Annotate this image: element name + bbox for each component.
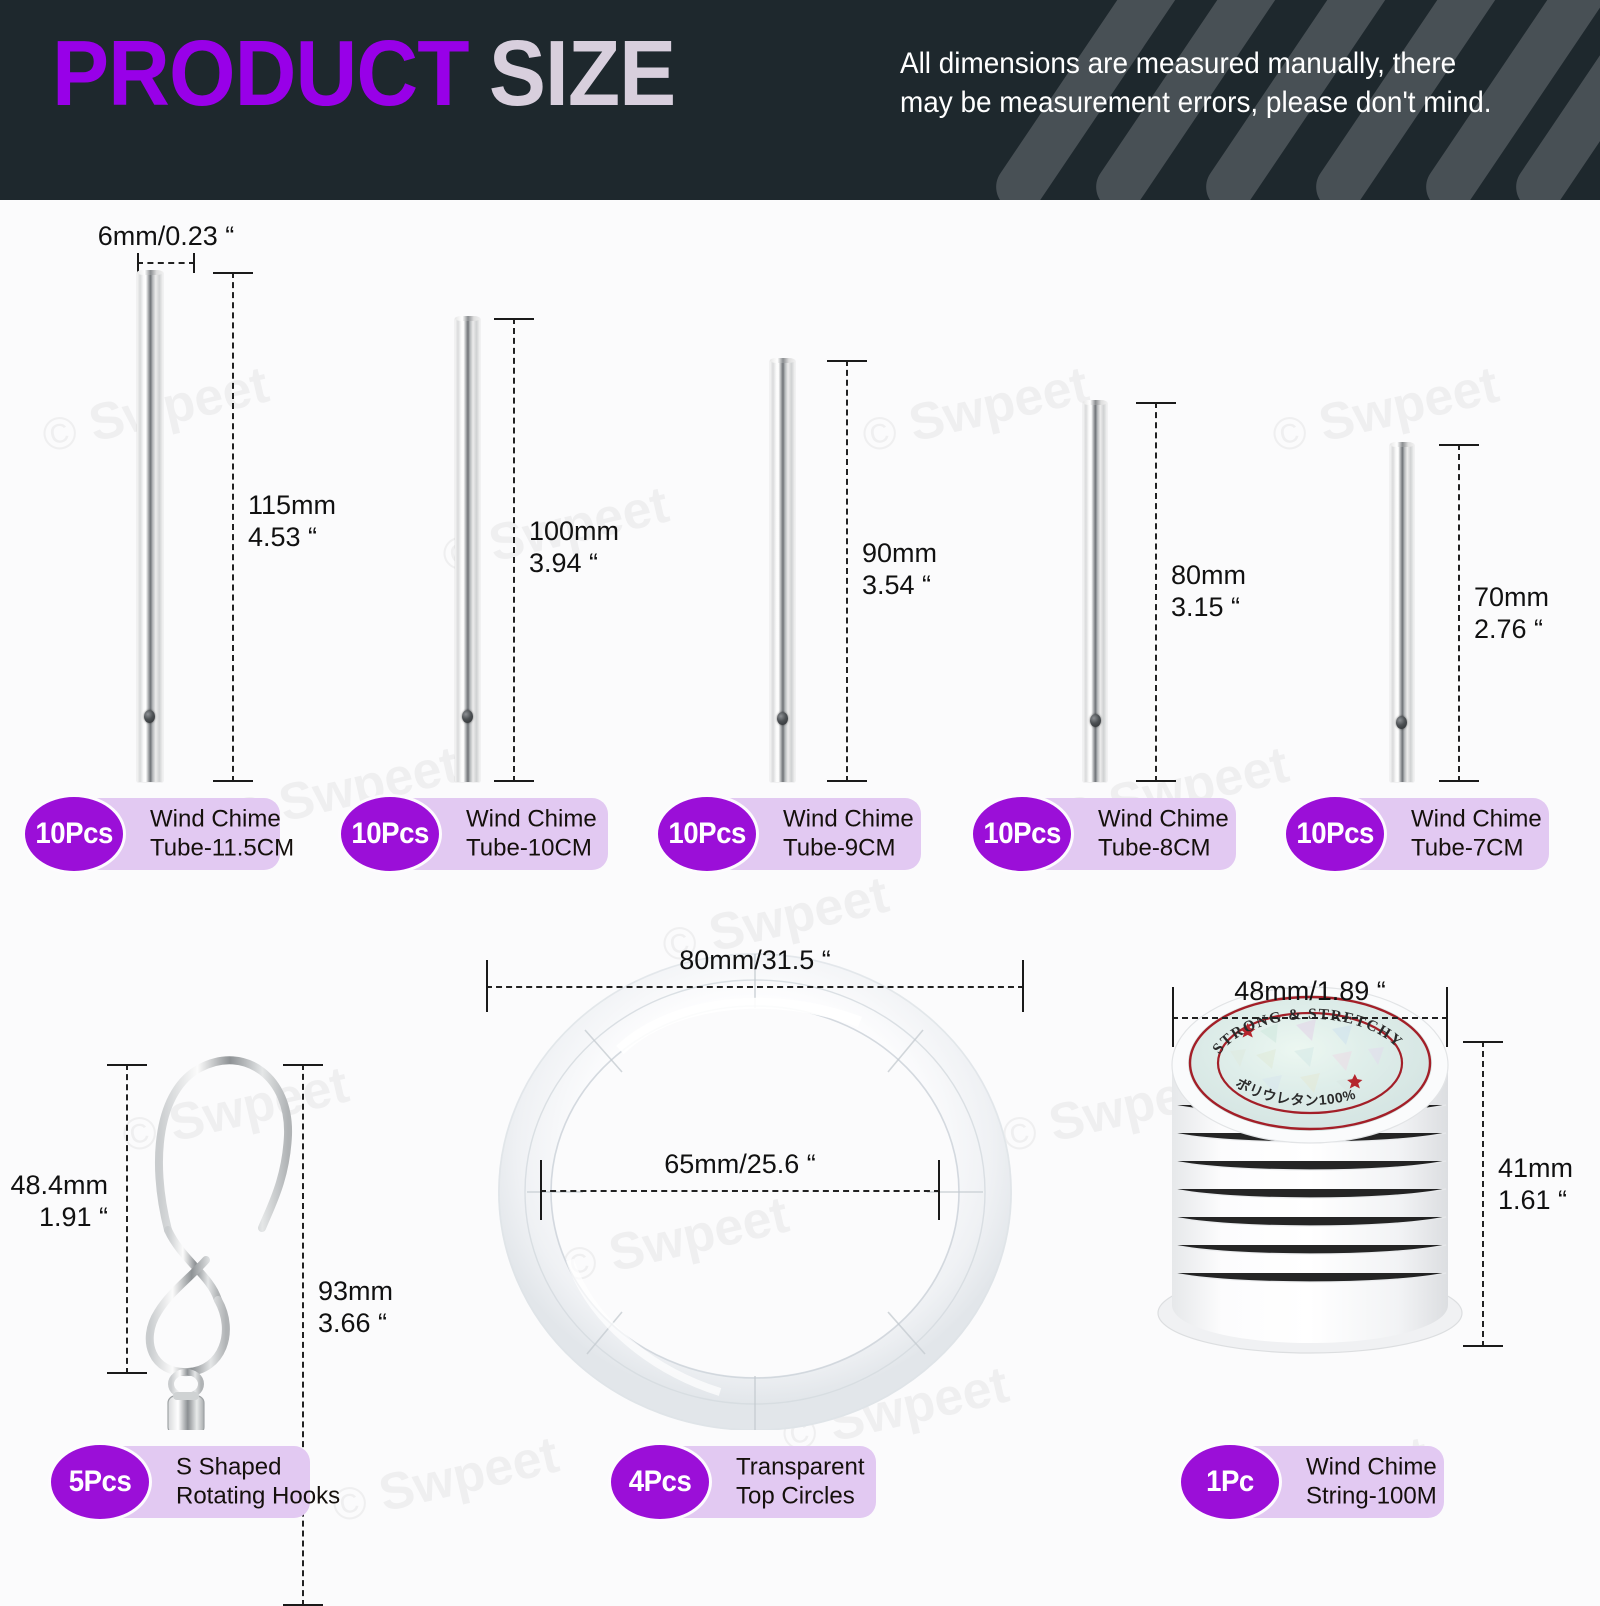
badge-label: Wind Chime Tube-7CM (1411, 805, 1542, 864)
dimension-tick-left (486, 960, 488, 1012)
header-banner: PRODUCTSIZE All dimensions are measured … (0, 0, 1600, 200)
tube-length-inch: 3.15 “ (1171, 592, 1246, 624)
tube-length-inch: 3.54 “ (862, 570, 937, 602)
caliper-line (137, 262, 195, 264)
watermark-brand: Swpeet (1314, 356, 1504, 453)
badge-label-line2: Tube-7CM (1411, 834, 1542, 863)
tube-length-label: 70mm 2.76 “ (1474, 582, 1549, 646)
badge-quantity: 4Pcs (629, 1465, 692, 1499)
dimension-tick-bottom (1136, 780, 1176, 782)
dimension-tick-bottom (494, 780, 534, 782)
dimension-line (846, 360, 848, 782)
badge-label-line1: S Shaped (176, 1453, 340, 1482)
tube-body (455, 318, 480, 782)
tube-hole (1090, 714, 1101, 727)
watermark-symbol: © (37, 404, 82, 462)
hook-total-inch: 3.66 “ (318, 1308, 393, 1340)
badge-string-spool[interactable]: 1Pc Wind Chime String-100M (1178, 1446, 1444, 1518)
spool-width-label: 48mm/1.89 “ (1234, 976, 1386, 1007)
dimension-tick-bottom (107, 1372, 147, 1374)
hook-upper-inch: 1.91 “ (0, 1202, 108, 1234)
badge-quantity: 10Pcs (668, 817, 746, 851)
spool-height-label: 41mm 1.61 “ (1498, 1153, 1573, 1217)
badge-label: Wind Chime Tube-11.5CM (150, 805, 294, 864)
badge-label: Wind Chime Tube-8CM (1098, 805, 1229, 864)
badge-label: Wind Chime Tube-10CM (466, 805, 597, 864)
tube-length-inch: 4.53 “ (248, 522, 336, 554)
dimension-tick-right (1446, 987, 1448, 1047)
dimension-line (302, 1064, 304, 1606)
badge-label-line2: Tube-8CM (1098, 834, 1229, 863)
tube-length-inch: 2.76 “ (1474, 614, 1549, 646)
watermark-symbol: © (1267, 404, 1312, 462)
badge-label-line1: Wind Chime (783, 805, 914, 834)
dimension-tick-top (107, 1064, 147, 1066)
badge-tube-90mm[interactable]: 10Pcs Wind Chime Tube-9CM (655, 798, 921, 870)
tube-length-mm: 100mm (529, 516, 619, 548)
badge-quantity: 5Pcs (69, 1465, 132, 1499)
spool-height-inch: 1.61 “ (1498, 1185, 1573, 1217)
tube-body (137, 272, 163, 782)
watermark-symbol: © (857, 404, 902, 462)
dimension-line (1482, 1041, 1484, 1347)
badge-tube-100mm[interactable]: 10Pcs Wind Chime Tube-10CM (338, 798, 608, 870)
dimension-tick-top (1136, 402, 1176, 404)
dimension-tick-top (1439, 444, 1479, 446)
tube-diameter-label: 6mm/0.23 “ (98, 221, 235, 252)
badge-label-line2: Tube-11.5CM (150, 834, 294, 863)
tube-length-inch: 3.94 “ (529, 548, 619, 580)
dimension-line (1172, 1017, 1448, 1019)
dimension-tick-top (283, 1064, 323, 1066)
badge-label-line2: Tube-9CM (783, 834, 914, 863)
badge-label-line1: Wind Chime (466, 805, 597, 834)
badge-label-line1: Wind Chime (1306, 1453, 1437, 1482)
tube-length-label: 80mm 3.15 “ (1171, 560, 1246, 624)
dimension-line (540, 1190, 940, 1192)
dimension-tick-left (1172, 987, 1174, 1047)
badge-tube-115mm[interactable]: 10Pcs Wind Chime Tube-11.5CM (22, 798, 280, 870)
tube-length-mm: 70mm (1474, 582, 1549, 614)
badge-circle: 1Pc (1178, 1442, 1282, 1522)
dimension-line (1458, 444, 1460, 782)
dimension-tick-top (213, 272, 253, 274)
dimension-line (513, 318, 515, 782)
badge-quantity: 10Pcs (983, 817, 1061, 851)
spool-height-mm: 41mm (1498, 1153, 1573, 1185)
watermark-brand: Swpeet (374, 1426, 564, 1523)
badge-label: Wind Chime Tube-9CM (783, 805, 914, 864)
badge-label-line2: Top Circles (736, 1482, 865, 1511)
top-circle-illustration (470, 930, 1040, 1430)
watermark-brand: Swpeet (904, 356, 1094, 453)
hook-total-label: 93mm 3.66 “ (318, 1276, 393, 1340)
badge-quantity: 10Pcs (35, 817, 113, 851)
page-title-secondary: SIZE (489, 21, 676, 125)
tube-body (1083, 402, 1107, 782)
hook-upper-label: 48.4mm 1.91 “ (0, 1170, 108, 1234)
badge-label: S Shaped Rotating Hooks (176, 1453, 340, 1512)
dimension-tick-top (827, 360, 867, 362)
dimension-line (232, 272, 234, 782)
badge-label-line1: Wind Chime (150, 805, 294, 834)
dimension-tick-top (494, 318, 534, 320)
product-top-circle: 80mm/31.5 “ 65mm/25.6 “ (470, 930, 1040, 1430)
dimension-tick-top (1463, 1041, 1503, 1043)
tube-length-label: 90mm 3.54 “ (862, 538, 937, 602)
hook-upper-mm: 48.4mm (0, 1170, 108, 1202)
tube-length-mm: 115mm (248, 490, 336, 522)
dimension-tick-left (540, 1160, 542, 1220)
badge-label-line2: Rotating Hooks (176, 1482, 340, 1511)
badge-label-line2: String-100M (1306, 1482, 1437, 1511)
ring-inner-label: 65mm/25.6 “ (664, 1149, 816, 1180)
tube-length-mm: 90mm (862, 538, 937, 570)
badge-tube-70mm[interactable]: 10Pcs Wind Chime Tube-7CM (1283, 798, 1549, 870)
dimension-tick-bottom (213, 780, 253, 782)
tube-body (1390, 444, 1414, 782)
hook-total-mm: 93mm (318, 1276, 393, 1308)
badge-circle: 5Pcs (48, 1442, 152, 1522)
tube-hole (462, 710, 473, 723)
dimension-line (486, 986, 1024, 988)
dimension-tick-bottom (827, 780, 867, 782)
product-s-hook: 48.4mm 1.91 “ 93mm 3.66 “ (40, 960, 420, 1430)
badge-label-line2: Tube-10CM (466, 834, 597, 863)
measurement-disclaimer: All dimensions are measured manually, th… (900, 44, 1514, 123)
watermark-brand: Swpeet (84, 356, 274, 453)
product-string-spool: STRONG & STRETCHY ポリウレタン100% 48mm/1.89 “… (1110, 955, 1550, 1375)
dimension-tick-right (938, 1160, 940, 1220)
badge-label-line1: Transparent (736, 1453, 865, 1482)
badge-quantity: 10Pcs (1296, 817, 1374, 851)
badge-s-hook[interactable]: 5Pcs S Shaped Rotating Hooks (48, 1446, 310, 1518)
tube-length-mm: 80mm (1171, 560, 1246, 592)
tube-hole (144, 710, 155, 723)
tube-hole (1396, 716, 1407, 729)
dimension-line (1155, 402, 1157, 782)
badge-label-line1: Wind Chime (1411, 805, 1542, 834)
badge-circle: 10Pcs (1283, 794, 1387, 874)
dimension-tick-right (1022, 960, 1024, 1012)
caliper-tick-right (193, 253, 195, 273)
dimension-tick-bottom (1463, 1345, 1503, 1347)
badge-top-circle[interactable]: 4Pcs Transparent Top Circles (608, 1446, 876, 1518)
tube-length-label: 115mm 4.53 “ (248, 490, 336, 554)
badge-circle: 10Pcs (970, 794, 1074, 874)
badge-circle: 10Pcs (22, 794, 126, 874)
badge-circle: 4Pcs (608, 1442, 712, 1522)
badge-label: Wind Chime String-100M (1306, 1453, 1437, 1512)
badge-circle: 10Pcs (338, 794, 442, 874)
badge-quantity: 1Pc (1206, 1465, 1254, 1499)
page-title: PRODUCTSIZE (52, 27, 675, 120)
tube-hole (777, 712, 788, 725)
tube-length-label: 100mm 3.94 “ (529, 516, 619, 580)
dimension-tick-bottom (1439, 780, 1479, 782)
page-title-primary: PRODUCT (52, 21, 469, 125)
badge-circle: 10Pcs (655, 794, 759, 874)
badge-tube-80mm[interactable]: 10Pcs Wind Chime Tube-8CM (970, 798, 1236, 870)
badge-quantity: 10Pcs (351, 817, 429, 851)
dimension-line (126, 1064, 128, 1374)
tube-body (770, 360, 795, 782)
badge-label: Transparent Top Circles (736, 1453, 865, 1512)
ring-outer-label: 80mm/31.5 “ (679, 945, 831, 976)
badge-label-line1: Wind Chime (1098, 805, 1229, 834)
